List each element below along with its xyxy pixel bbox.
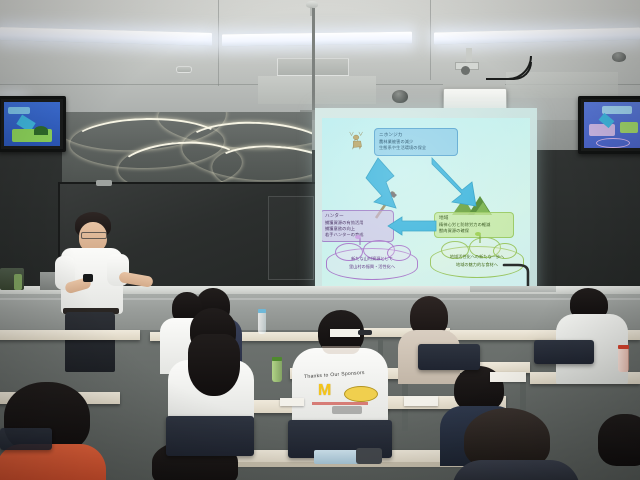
presentation-remote (83, 274, 93, 282)
ceiling-vent (176, 66, 192, 73)
handout-paper (404, 396, 438, 406)
desk-item (314, 450, 360, 464)
board-light-fixture (96, 180, 112, 186)
deer-icon (346, 130, 368, 154)
bottle-cap (258, 309, 266, 313)
ceiling-seam (430, 0, 431, 80)
projector-lens (461, 66, 470, 75)
ceiling-panel (258, 76, 376, 104)
tshirt-stripe (312, 402, 368, 405)
slide-cloud-left: 新たな山村資源として 里山村の振興・活性化へ (326, 248, 418, 280)
ceiling-seam (218, 0, 219, 86)
handout-paper (330, 329, 360, 337)
sprout-icon (355, 233, 365, 245)
attendee-torso (452, 460, 580, 480)
wavy-light-decor-panel (62, 112, 312, 184)
counter-bottle (14, 274, 22, 290)
right-wall-monitor (578, 96, 640, 154)
sink-basin (470, 286, 556, 292)
water-bottle (618, 348, 629, 372)
arrow-deer-to-region (426, 154, 492, 214)
handout-paper (490, 372, 526, 382)
tshirt-graphic (332, 406, 362, 414)
glasses-icon (81, 232, 107, 239)
node-line: 生態系や生活環境の保全 (379, 145, 453, 151)
dome-camera (392, 90, 408, 103)
mcdonalds-logo-icon: M (318, 384, 331, 398)
tshirt-collar (322, 346, 360, 354)
dome-camera (612, 52, 626, 62)
cloud-line: 地域活性化への新たな一歩へ (431, 254, 523, 261)
cloud-line: 新たな山村資源として (327, 256, 417, 263)
presenter (55, 212, 141, 372)
node-line: 獣肉資源の確保 (439, 228, 509, 234)
sprout-icon (475, 230, 485, 243)
phone-device (358, 330, 372, 335)
water-bottle (272, 360, 282, 382)
attendee-hair-long (188, 334, 240, 396)
chair (534, 340, 594, 364)
ceiling-drop-pole (312, 8, 315, 112)
attendee-far-right (598, 414, 640, 480)
arrow-hunter-to-deer (352, 156, 398, 218)
monitor-screen (584, 102, 640, 148)
lecture-room-photo: ニホンジカ 農林業被害の減少 生態系や生活環境の保全 地域 精神心労と防除労力の… (0, 0, 640, 480)
arrow-region-to-hunter (386, 216, 438, 236)
chair (166, 416, 254, 456)
handout-paper (280, 398, 304, 406)
water-bottle (258, 312, 266, 334)
desk-item (356, 448, 382, 464)
attendee-sponsor-tshirt: Thanks to Our Sponsors M (292, 310, 388, 422)
attendee-long-hair-white (168, 308, 254, 418)
attendee-front-right-dark (452, 408, 580, 480)
blackboard-panel (268, 196, 314, 280)
cloud-line: 里山村の振興・活性化へ (327, 264, 417, 271)
left-wall-monitor (0, 96, 66, 152)
chair (0, 428, 52, 450)
attendee-hair (598, 414, 640, 466)
bottle-cap (618, 345, 629, 349)
bottle-cap (272, 357, 282, 361)
presenter-trousers (65, 312, 115, 372)
slide-node-region: 地域 精神心労と防除労力の軽減 獣肉資源の確保 (434, 212, 514, 238)
chair (418, 344, 480, 370)
slide-node-deer: ニホンジカ 農林業被害の減少 生態系や生活環境の保全 (374, 128, 458, 156)
sprinkler-head (306, 1, 318, 8)
student-desk (0, 330, 140, 340)
monitor-screen (4, 102, 60, 146)
sponsor-oval-logo (344, 386, 378, 402)
